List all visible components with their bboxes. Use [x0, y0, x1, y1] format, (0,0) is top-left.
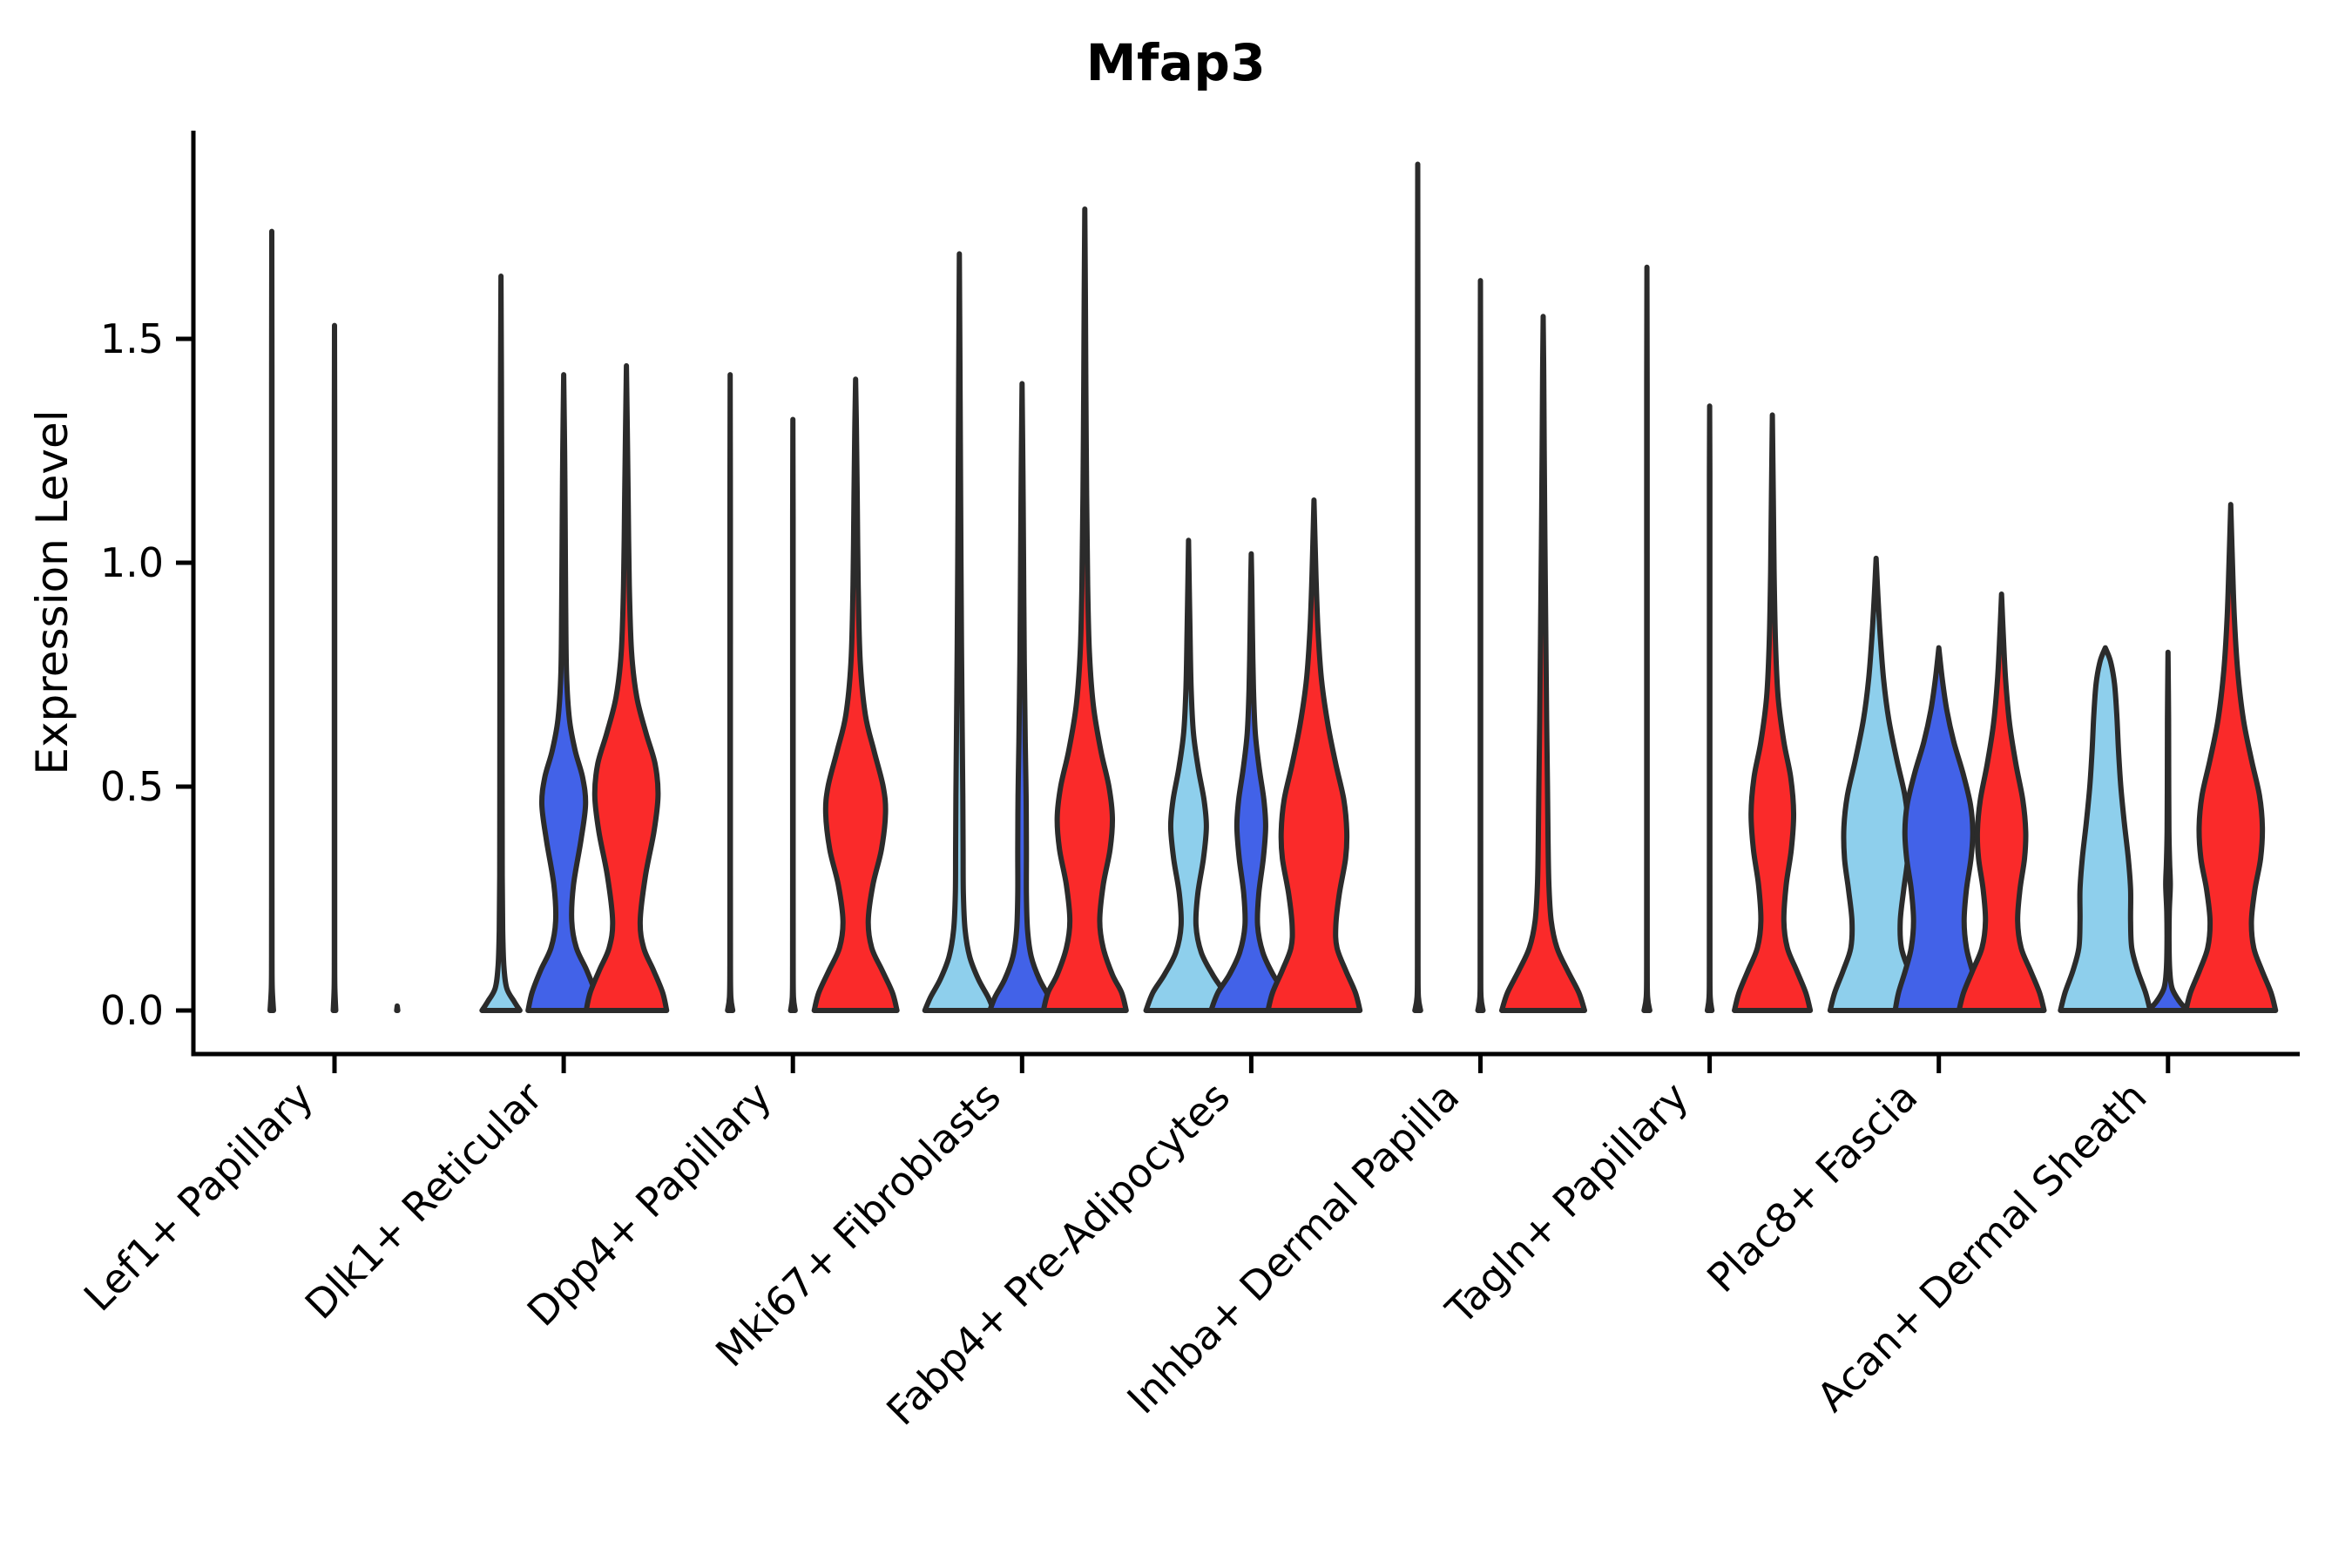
violin-shape [990, 383, 1054, 1010]
violin-shape [2148, 652, 2187, 1010]
violin-shape [791, 420, 795, 1010]
violin-shape [1502, 316, 1585, 1010]
violin-shape [1146, 540, 1232, 1010]
violin-shape [1415, 165, 1421, 1010]
violin-shape [270, 232, 274, 1010]
x-tick-label-6: Tagln+ Papillary [1436, 1073, 1698, 1335]
violin-shape [1211, 554, 1291, 1010]
violin-shape [586, 366, 666, 1010]
violin-shape [334, 326, 336, 1010]
violin-shape [1896, 648, 1983, 1010]
violins-group [270, 165, 2275, 1010]
violin-shape [727, 375, 733, 1010]
violin-shape [1478, 280, 1484, 1010]
violin-shape [814, 379, 897, 1010]
x-tick-label-7: Plac8+ Fascia [1698, 1073, 1926, 1301]
violin-shape [1734, 415, 1810, 1010]
plot-canvas: 0.00.51.01.5Lef1+ PapillaryDlk1+ Reticul… [0, 0, 2352, 1568]
y-tick-label: 0.0 [100, 987, 164, 1034]
x-tick-label-1: Dlk1+ Reticular [296, 1073, 551, 1328]
violin-shape [396, 1006, 397, 1010]
violin-shape [1707, 406, 1712, 1010]
violin-shape [1268, 500, 1361, 1010]
violin-shape [2186, 504, 2275, 1010]
violin-shape [482, 276, 520, 1010]
violin-shape [925, 253, 994, 1010]
violin-shape [1044, 209, 1126, 1010]
violin-shape [1830, 558, 1923, 1010]
x-tick-label-0: Lef1+ Papillary [75, 1073, 322, 1321]
y-tick-label: 1.5 [100, 315, 164, 362]
violin-shape [1644, 267, 1650, 1010]
violin-shape [2060, 648, 2150, 1010]
violin-plot-figure: Mfap3 Expression Level 0.00.51.01.5Lef1+… [0, 0, 2352, 1568]
y-tick-label: 0.5 [100, 763, 164, 810]
violin-shape [528, 375, 599, 1010]
x-tick-label-2: Dpp4+ Papillary [518, 1073, 781, 1335]
y-tick-label: 1.0 [100, 539, 164, 586]
